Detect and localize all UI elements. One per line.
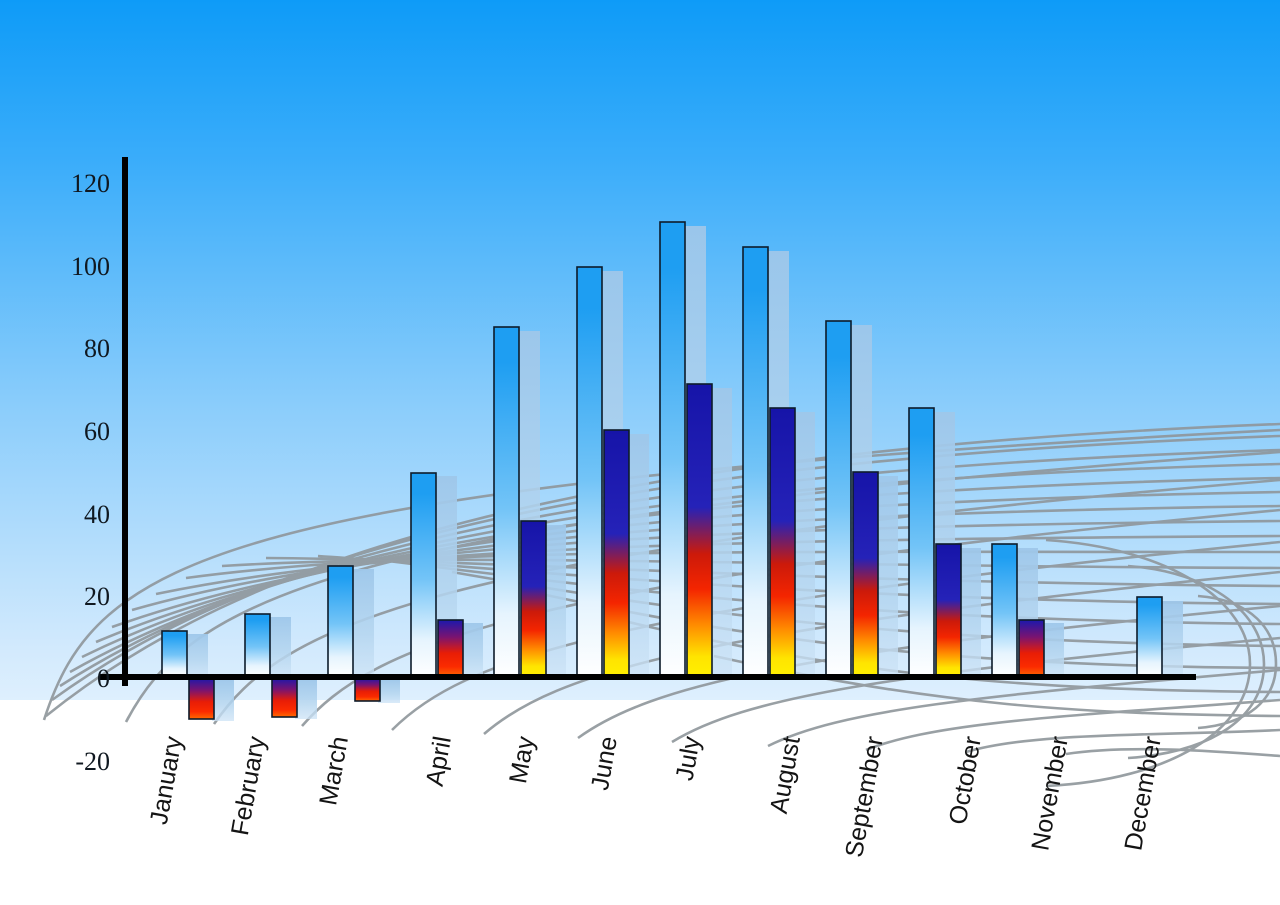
bar-june-series2[interactable] bbox=[604, 430, 629, 677]
bar-may-series2[interactable] bbox=[521, 521, 546, 677]
bar-shadow-october-s2 bbox=[959, 548, 981, 677]
y-tick-80: 80 bbox=[84, 334, 110, 363]
bar-june-series1[interactable] bbox=[577, 267, 602, 677]
y-tick-120: 120 bbox=[71, 169, 110, 198]
bar-february-series1[interactable] bbox=[245, 614, 270, 677]
bar-shadow-january-s2 bbox=[212, 680, 234, 721]
bar-march-series2[interactable] bbox=[355, 678, 380, 701]
bar-chart: 120 100 80 60 40 20 0 -20 January Februa… bbox=[0, 0, 1280, 905]
bar-december-series1[interactable] bbox=[1137, 597, 1162, 677]
bar-january-series2[interactable] bbox=[189, 678, 214, 719]
bar-january-series1[interactable] bbox=[162, 631, 187, 677]
y-tick-60: 60 bbox=[84, 417, 110, 446]
bar-march-series1[interactable] bbox=[328, 566, 353, 677]
bar-august-series1[interactable] bbox=[743, 247, 768, 677]
bar-shadow-february-s2 bbox=[295, 680, 317, 719]
y-tick-0: 0 bbox=[97, 664, 110, 693]
bar-shadow-february-s1 bbox=[269, 617, 291, 677]
y-tick-20: 20 bbox=[84, 582, 110, 611]
bar-shadow-april-s2 bbox=[461, 623, 483, 677]
bar-may-series1[interactable] bbox=[494, 327, 519, 677]
chart-background-floor bbox=[0, 700, 1280, 905]
bar-april-series1[interactable] bbox=[411, 473, 436, 677]
bar-april-series2[interactable] bbox=[438, 620, 463, 677]
bar-november-series2[interactable] bbox=[1019, 620, 1044, 677]
bar-shadow-may-s2 bbox=[544, 525, 566, 677]
y-tick-minus-20: -20 bbox=[75, 747, 110, 776]
bar-february-series2[interactable] bbox=[272, 678, 297, 717]
chart-root: 120 100 80 60 40 20 0 -20 January Februa… bbox=[0, 0, 1280, 905]
bar-shadow-december-s1 bbox=[1161, 601, 1183, 677]
bar-october-series2[interactable] bbox=[936, 544, 961, 677]
bar-shadow-august-s2 bbox=[793, 412, 815, 677]
bar-shadow-july-s2 bbox=[710, 388, 732, 677]
bar-july-series1[interactable] bbox=[660, 222, 685, 677]
bar-september-series2[interactable] bbox=[853, 472, 878, 677]
bar-group-december[interactable] bbox=[1137, 597, 1183, 677]
bar-shadow-march-s1 bbox=[352, 569, 374, 677]
bar-september-series1[interactable] bbox=[826, 321, 851, 677]
bar-july-series2[interactable] bbox=[687, 384, 712, 677]
bar-shadow-september-s2 bbox=[876, 476, 898, 677]
bar-shadow-november-s2 bbox=[1042, 623, 1064, 677]
bar-november-series1[interactable] bbox=[992, 544, 1017, 677]
y-tick-100: 100 bbox=[71, 252, 110, 281]
bar-august-series2[interactable] bbox=[770, 408, 795, 677]
bar-shadow-june-s2 bbox=[627, 434, 649, 677]
y-tick-40: 40 bbox=[84, 500, 110, 529]
bar-shadow-january-s1 bbox=[186, 634, 208, 677]
bar-shadow-march-s2 bbox=[378, 680, 400, 703]
bar-october-series1[interactable] bbox=[909, 408, 934, 677]
